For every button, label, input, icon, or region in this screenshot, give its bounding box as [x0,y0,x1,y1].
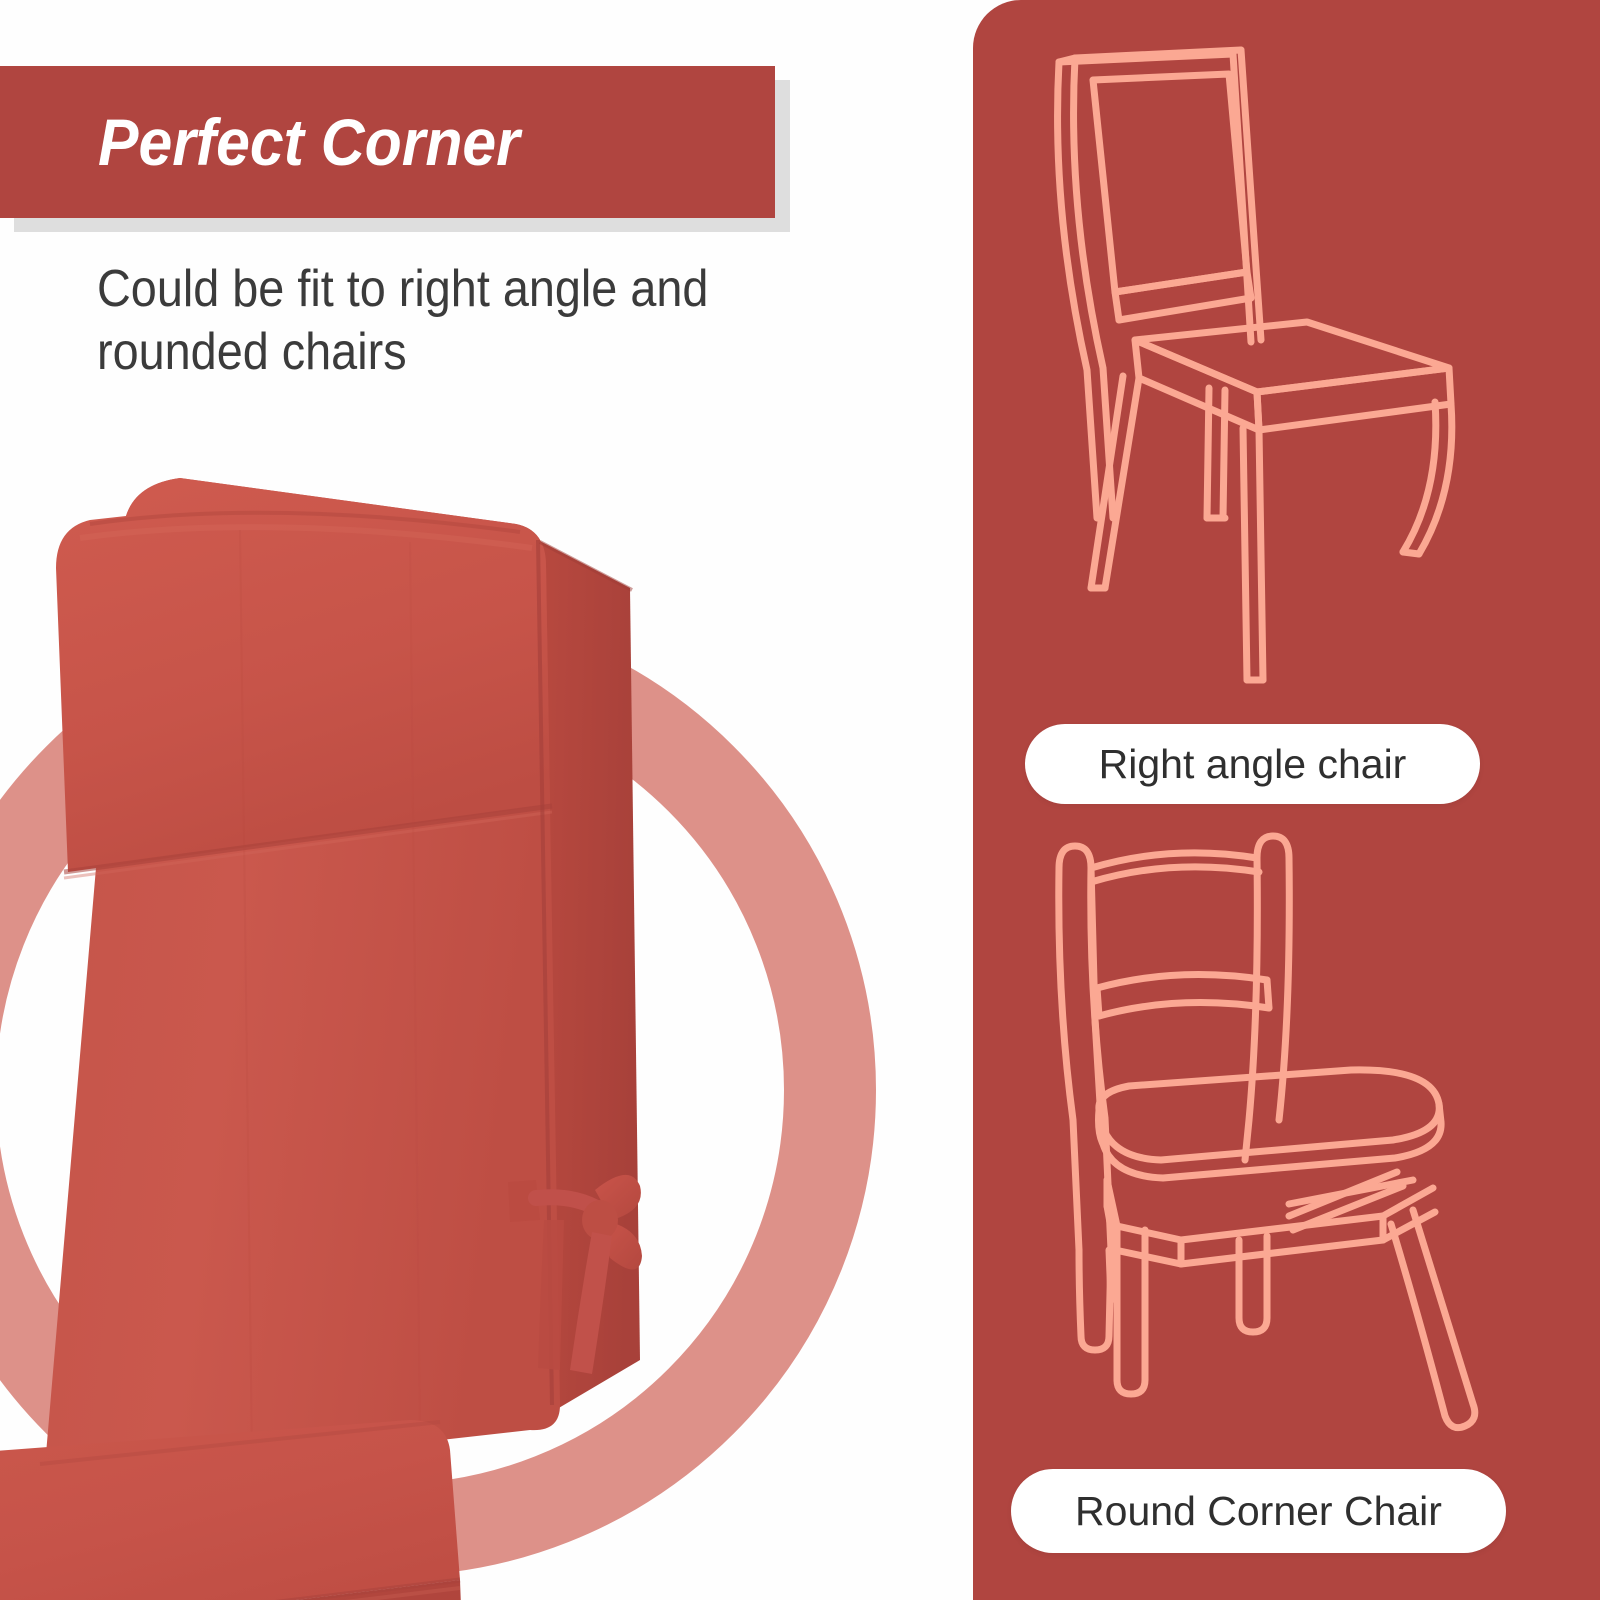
title-banner: Perfect Corner [0,66,775,218]
cushion-seat-panel [0,1420,464,1600]
subtitle-text: Could be fit to right angle and rounded … [97,258,853,385]
page-title: Perfect Corner [98,104,520,180]
chair-label-right-angle: Right angle chair [1025,724,1480,804]
cushion-product-photo [0,420,720,1600]
marketing-image: Perfect Corner Could be fit to right ang… [0,0,1600,1600]
chair-label-round-corner: Round Corner Chair [1011,1469,1506,1553]
chair-types-panel: Right angle chair [973,0,1600,1600]
chair-label-text: Right angle chair [1099,741,1407,788]
chair-label-text: Round Corner Chair [1075,1488,1442,1535]
chair-square-back-icon [1011,40,1571,700]
chair-round-back-icon [1021,820,1581,1460]
left-content-panel: Perfect Corner Could be fit to right ang… [0,0,975,1600]
